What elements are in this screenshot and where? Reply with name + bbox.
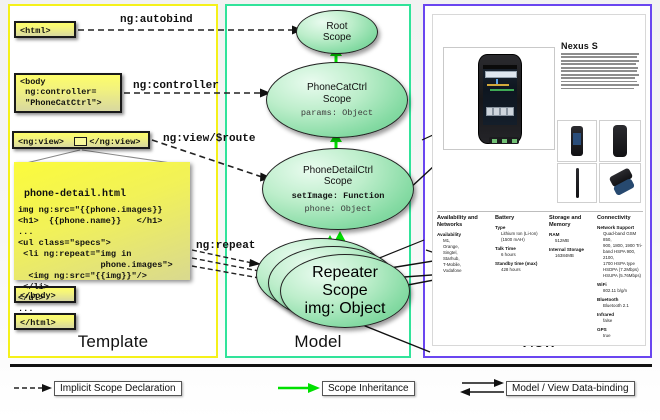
scope-phonecatctrl-name1: PhoneCatCtrl	[307, 82, 367, 93]
scope-root-name2: Scope	[323, 32, 351, 43]
thumbnail-front[interactable]	[557, 120, 597, 162]
legend-item-scope-inheritance: Scope Inheritance	[278, 379, 415, 397]
phone-hero-image	[443, 47, 555, 150]
phone-searchbar	[485, 71, 517, 78]
ngview-slot-icon	[74, 137, 87, 146]
phone-statusbar	[483, 65, 517, 69]
spec-value: (1500 mAH)	[501, 237, 547, 243]
scope-phonedetailctrl-attr-phone: phone: Object	[304, 204, 371, 214]
scope-repeater-name2: Scope	[322, 282, 367, 299]
thumbnail-back[interactable]	[599, 120, 641, 162]
column-label-model: Model	[227, 332, 409, 352]
template-note-phone-detail: phone-detail.htmlimg ng:src="{{phone.ima…	[14, 162, 190, 280]
dashed-arrow-icon	[14, 381, 54, 395]
scope-phonedetailctrl: PhoneDetailCtrlScope setImage: Function …	[262, 148, 414, 230]
column-label-template: Template	[10, 332, 216, 352]
product-description	[561, 53, 639, 91]
diagram-canvas: Template Model View	[0, 0, 660, 420]
spec-value: HSUPA (5.76Mbps)	[603, 273, 645, 279]
spec-column-availability: Availability and Networks Availability M…	[437, 215, 491, 274]
spec-column-battery: Battery Type Lithium Ion (Li-Ion) (1500 …	[495, 215, 547, 273]
spec-heading: Battery	[495, 215, 547, 222]
rendered-page: Nexus S Availability and Networks	[432, 14, 646, 346]
legend-item-model-view-data-binding: Model / View Data-binding	[460, 379, 635, 397]
arrow-label-controller: ng:controller	[133, 80, 219, 92]
legend-label: Scope Inheritance	[322, 381, 415, 396]
scope-phonedetailctrl-attr-setimage: setImage: Function	[292, 191, 385, 201]
double-arrow-icon	[460, 378, 506, 398]
product-title: Nexus S	[561, 41, 598, 51]
scope-repeater: RepeaterScope img: Object	[280, 254, 410, 328]
spec-column-connectivity: Connectivity Network Support Quad-band G…	[597, 215, 645, 339]
spec-value: 512MB	[555, 238, 601, 244]
spec-divider	[437, 211, 643, 212]
spec-value: band HSPA 900, 2100,	[603, 249, 645, 261]
phone-app-icons	[486, 107, 514, 116]
solid-green-arrow-icon	[278, 381, 322, 395]
spec-value: true	[603, 333, 645, 339]
note-title: phone-detail.html	[24, 189, 186, 202]
thumbnail-side[interactable]	[557, 163, 597, 203]
spec-value: false	[603, 318, 645, 324]
thumbnail-angled[interactable]	[599, 163, 641, 203]
scope-phonedetailctrl-name2: Scope	[324, 176, 352, 187]
phone-screen-accent-green	[490, 89, 514, 91]
spec-value: 428 hours	[501, 267, 547, 273]
scope-phonecatctrl-attr-params: params: Object	[301, 108, 373, 118]
scope-root: RootScope	[296, 10, 378, 54]
spec-value: Bluetooth 2.1	[603, 303, 645, 309]
phone-screen	[483, 65, 517, 125]
note-code: img ng:src="{{phone.images}} <h1> {{phon…	[18, 205, 173, 314]
code-box-body-open: <body ng:controller= "PhoneCatCtrl">	[14, 73, 122, 113]
spec-heading: Availability and Networks	[437, 215, 491, 229]
spec-table: Availability and Networks Availability M…	[437, 215, 643, 343]
spec-value: 6 hours	[501, 252, 547, 258]
spec-heading: Storage and Memory	[549, 215, 601, 229]
spec-heading: Connectivity	[597, 215, 645, 222]
legend-divider	[10, 364, 652, 367]
scope-phonecatctrl: PhoneCatCtrlScope params: Object	[266, 62, 408, 138]
spec-value: 16384MB	[555, 253, 601, 259]
spec-value: 802.11 b/g/n	[603, 288, 645, 294]
legend-item-implicit-scope-declaration: Implicit Scope Declaration	[14, 379, 182, 397]
spec-value: Vodafone	[443, 268, 491, 274]
scope-repeater-name1: Repeater	[312, 264, 378, 281]
scope-phonecatctrl-name2: Scope	[323, 94, 351, 105]
arrow-label-autobind: ng:autobind	[120, 14, 193, 26]
phone-screen-accent-yellow	[487, 84, 509, 86]
spec-value: Quad-band GSM 850,	[603, 231, 645, 243]
legend-label: Model / View Data-binding	[506, 381, 635, 396]
legend-label: Implicit Scope Declaration	[54, 381, 182, 396]
arrow-label-ngview-route: ng:view/$route	[163, 133, 255, 145]
spec-column-storage: Storage and Memory RAM 512MB Internal St…	[549, 215, 601, 259]
code-box-html-open: <html>	[14, 21, 76, 38]
arrow-label-repeat: ng:repeat	[196, 240, 255, 252]
scope-phonedetailctrl-name1: PhoneDetailCtrl	[303, 165, 373, 176]
phone-dock	[489, 137, 519, 144]
scope-repeater-attr-img: img: Object	[305, 300, 386, 318]
scope-root-name1: Root	[326, 21, 347, 32]
phone-device-icon	[478, 54, 522, 144]
